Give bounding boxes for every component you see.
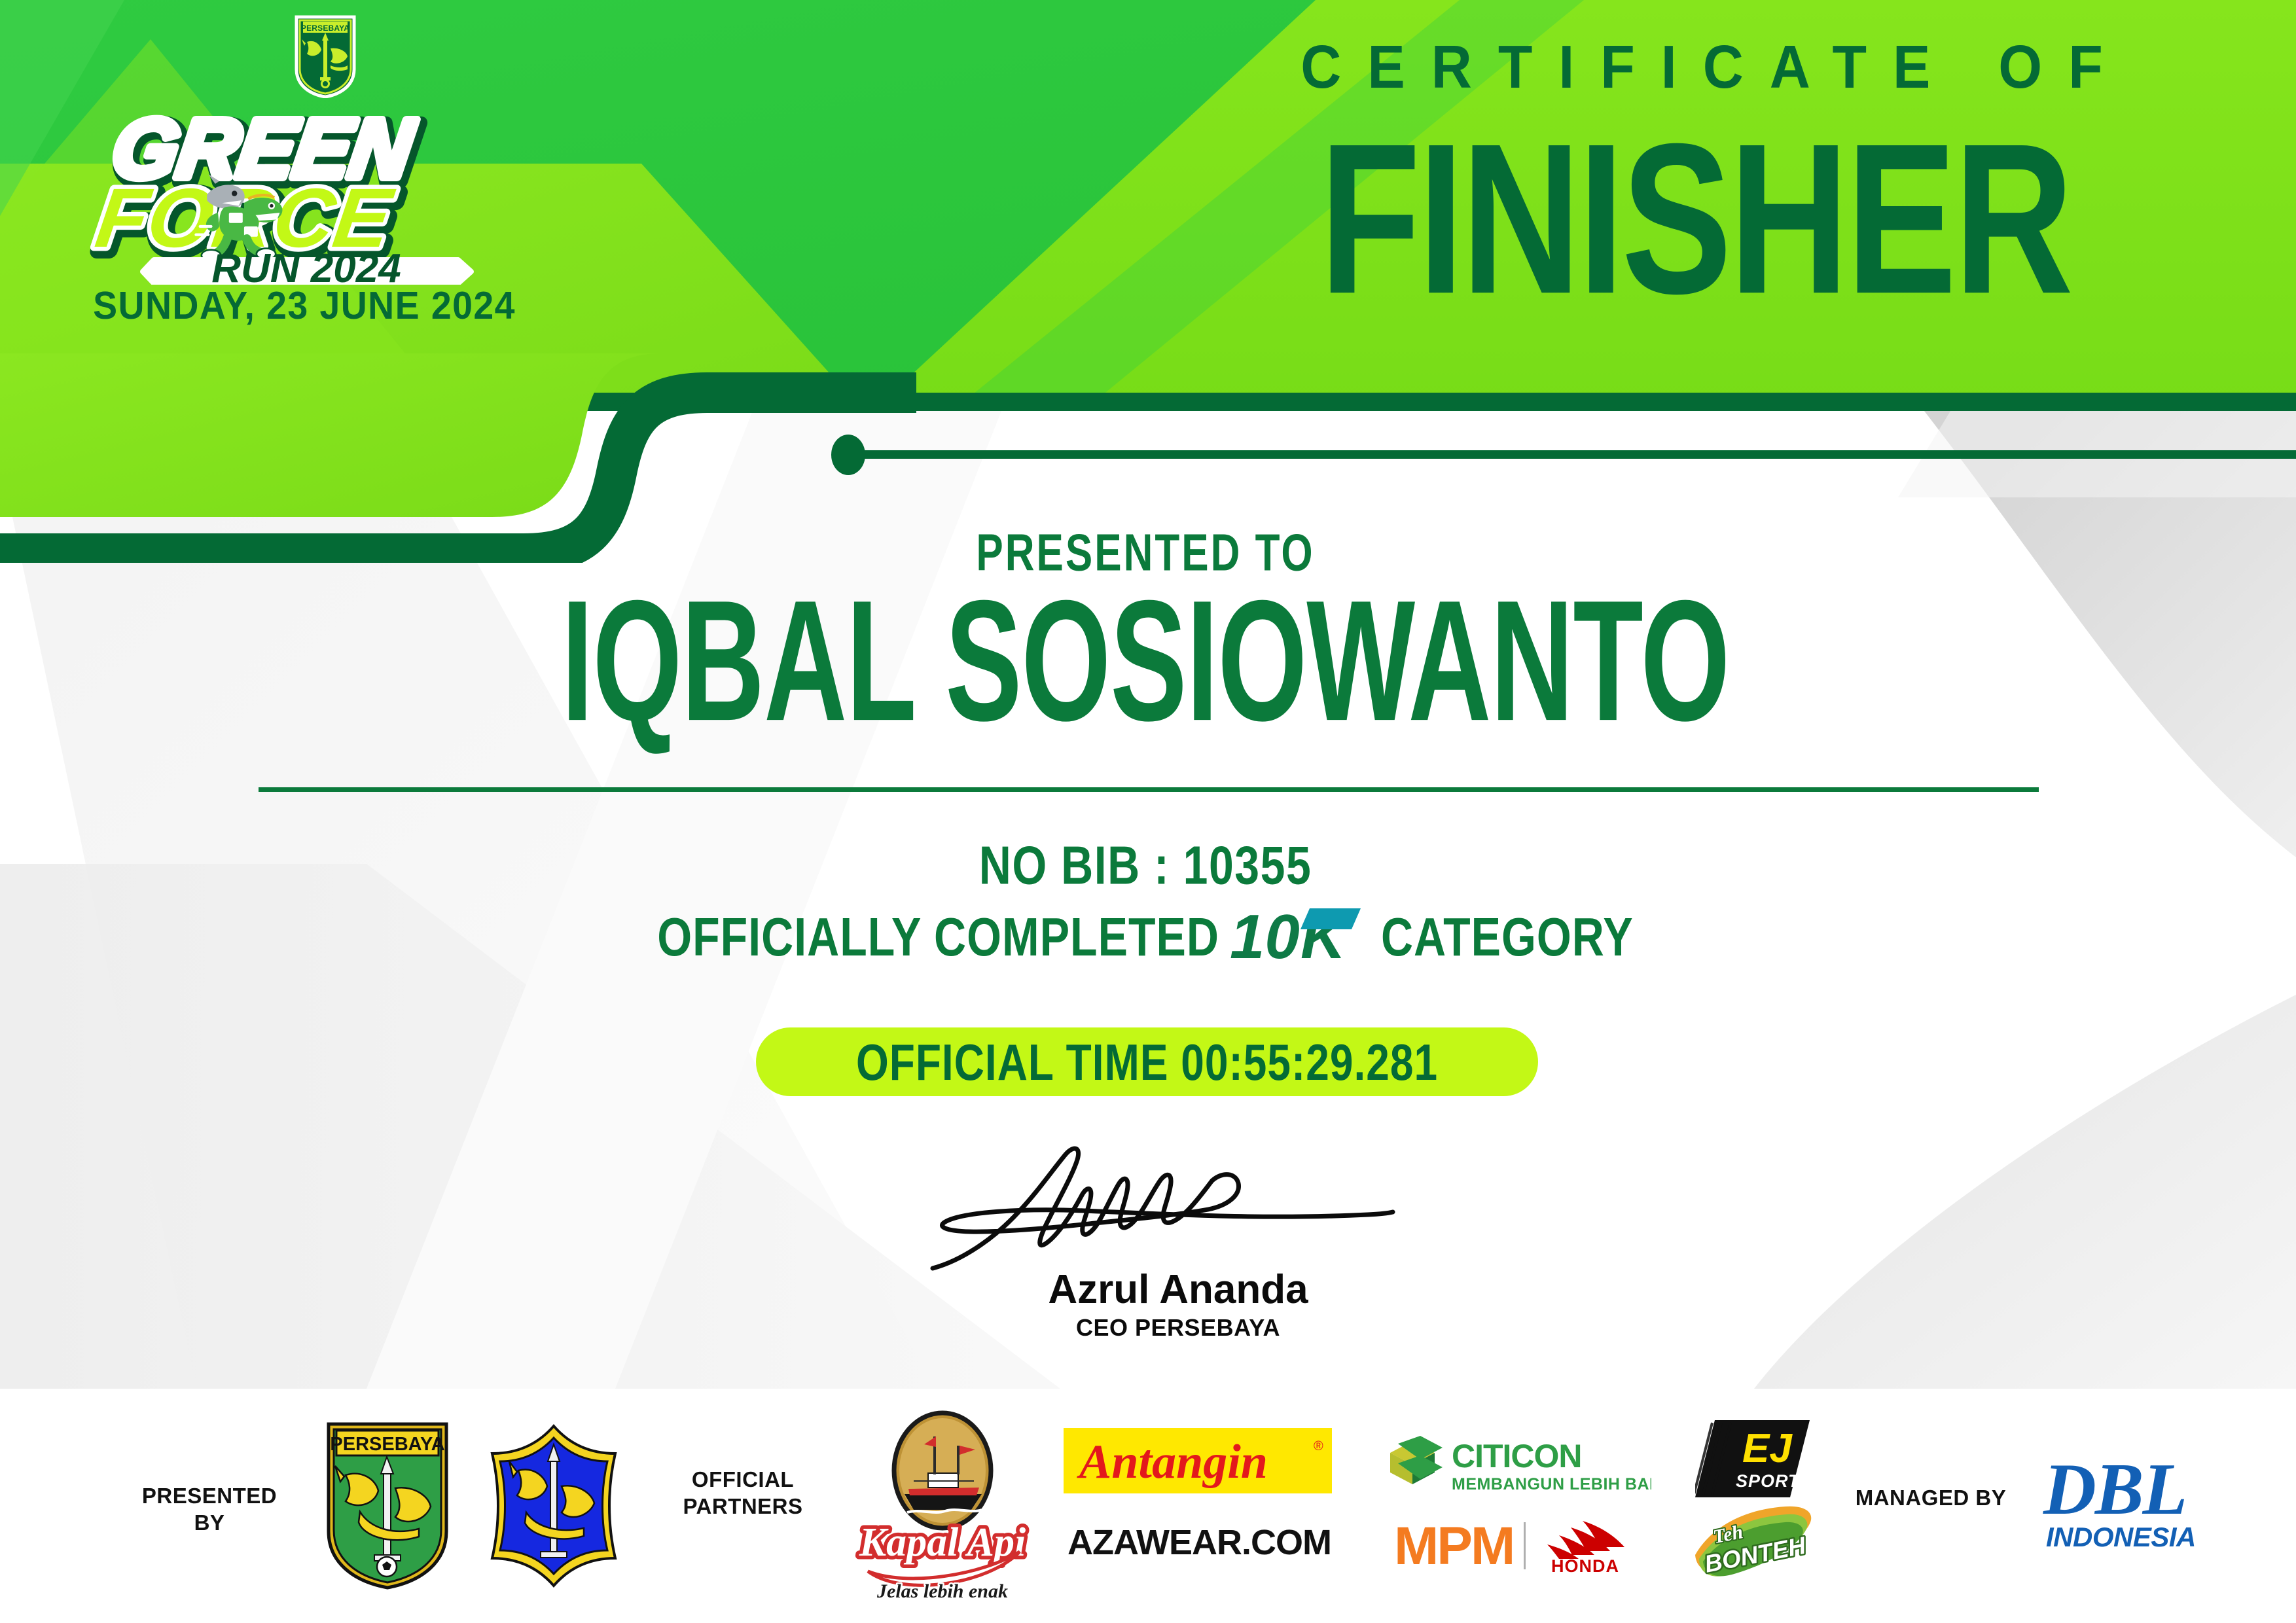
- certificate-title-finisher: FINISHER: [1141, 111, 2249, 325]
- azawear-logo: AZAWEAR.COM: [1064, 1520, 1335, 1565]
- ej-sport-logo: EJ SPORT: [1695, 1420, 1810, 1497]
- category-completion-row: OFFICIALLY COMPLETED 10 K CATEGORY: [393, 904, 1898, 970]
- green-force-run-logo: .gf-big { font-family:"Liberation Sans",…: [39, 108, 569, 330]
- dbl-indonesia-sub: INDONESIA: [2046, 1522, 2196, 1552]
- dbl-indonesia-logo: DBL INDONESIA: [2036, 1450, 2251, 1554]
- teh-bonteh-logo: Teh Teh BONTEH BONTEH: [1689, 1505, 1820, 1585]
- svg-text:PERSEBAYA: PERSEBAYA: [330, 1434, 444, 1455]
- mpm-divider: [1524, 1522, 1526, 1569]
- official-time-text: OFFICIAL TIME 00:55:29.281: [856, 1032, 1438, 1091]
- signatory-name: Azrul Ananda: [916, 1266, 1440, 1313]
- citicon-logo: CITICON MEMBANGUN LEBIH BAIK: [1386, 1435, 1651, 1495]
- official-partners-line1: OFFICIAL: [661, 1466, 825, 1493]
- antangin-wordmark: Antangin: [1077, 1435, 1268, 1489]
- bib-number: NO BIB : 10355: [720, 834, 1571, 897]
- category-10k-accent: [1300, 908, 1361, 929]
- official-partners-line2: PARTNERS: [661, 1493, 825, 1520]
- mpm-wordmark: MPM: [1394, 1518, 1513, 1576]
- signature-block: Azrul Ananda CEO PERSEBAYA: [916, 1145, 1440, 1361]
- accent-line: [863, 450, 2296, 459]
- svg-text:10: 10: [1230, 904, 1300, 970]
- honda-wing-icon: [1547, 1521, 1624, 1559]
- persebaya-crest-logo: PERSEBAYA: [319, 1420, 456, 1590]
- event-date: SUNDAY, 23 JUNE 2024: [55, 283, 553, 328]
- certificate-of-label: CERTIFICATE OF: [1172, 33, 2232, 103]
- accent-dot-icon: [831, 435, 865, 475]
- svg-text:PERSEBAYA: PERSEBAYA: [301, 24, 350, 33]
- logo-run2024-text: RUN 2024: [211, 246, 401, 285]
- honda-wordmark: HONDA: [1551, 1556, 1619, 1576]
- kapal-api-logo: Kapal Api Kapal Api Jelas lebih enak Jel…: [851, 1410, 1034, 1603]
- kapal-api-wordmark: Kapal Api: [859, 1520, 1026, 1565]
- presented-by-label: PRESENTED BY: [124, 1482, 295, 1537]
- completed-suffix: CATEGORY: [1381, 906, 1634, 968]
- managed-by-label: MANAGED BY: [1836, 1484, 2026, 1511]
- kapal-api-tagline: Jelas lebih enak: [876, 1580, 1008, 1602]
- mpm-honda-logo: MPM HONDA: [1394, 1518, 1643, 1576]
- citicon-wordmark: CITICON: [1452, 1438, 1582, 1474]
- green-force-wordmark-svg: .gf-big { font-family:"Liberation Sans",…: [39, 108, 569, 285]
- antangin-registered-mark: ®: [1314, 1439, 1323, 1454]
- ej-wordmark: EJ: [1742, 1426, 1793, 1471]
- citicon-tagline: MEMBANGUN LEBIH BAIK: [1452, 1475, 1651, 1493]
- handwritten-signature-icon: [916, 1145, 1440, 1276]
- surabaya-city-emblem: [487, 1423, 621, 1588]
- dbl-wordmark: DBL: [2043, 1450, 2186, 1530]
- content-divider: [259, 787, 2039, 792]
- persebaya-crest-icon: PERSEBAYA: [293, 14, 358, 98]
- official-partners-label: OFFICIAL PARTNERS: [661, 1466, 825, 1520]
- azawear-wordmark: AZAWEAR.COM: [1067, 1523, 1331, 1562]
- signatory-title: CEO PERSEBAYA: [916, 1314, 1440, 1342]
- official-time-badge: OFFICIAL TIME 00:55:29.281: [756, 1027, 1538, 1096]
- completed-prefix: OFFICIALLY COMPLETED: [657, 906, 1219, 968]
- certificate-canvas: PERSEBAYA .gf-big { font-family:"Liberat…: [0, 0, 2296, 1623]
- accent-dot-and-line: [831, 432, 2296, 478]
- category-10k-badge-icon: 10 K: [1230, 904, 1371, 970]
- citicon-cube-icon: [1390, 1436, 1443, 1484]
- antangin-logo: Antangin ®: [1064, 1428, 1332, 1493]
- recipient-name: IQBAL SOSIOWANTO: [493, 576, 1799, 748]
- ej-sport-sub: SPORT: [1736, 1471, 1801, 1491]
